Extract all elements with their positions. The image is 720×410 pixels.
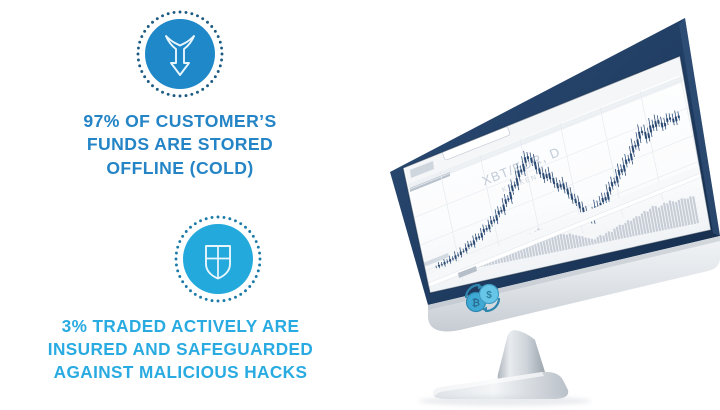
candle-body: [528, 156, 529, 159]
candle-body: [607, 192, 608, 199]
candle-body: [512, 186, 513, 192]
svg-text:$: $: [486, 290, 492, 301]
volume-bar: [597, 237, 598, 243]
candle-body: [481, 233, 482, 237]
cold-storage-caption: 97% OF CUSTOMER’S FUNDS ARE STORED OFFLI…: [30, 110, 330, 180]
ring-dot: [161, 91, 164, 94]
desktop-monitor: XBT/EUR, D KRAKEN: [330, 0, 720, 410]
shield-icon: [183, 224, 253, 294]
feature-cold-storage: 97% OF CUSTOMER’S FUNDS ARE STORED OFFLI…: [0, 8, 360, 180]
candle-body: [521, 170, 522, 173]
ring-dot: [234, 296, 237, 299]
ring-dot: [220, 47, 223, 50]
candle-body: [610, 187, 611, 191]
ring-dot: [219, 64, 222, 67]
candle-body: [535, 162, 536, 170]
infographic-canvas: 97% OF CUSTOMER’S FUNDS ARE STORED OFFLI…: [0, 0, 720, 410]
candle-body: [575, 199, 576, 203]
insurance-badge: [172, 213, 264, 305]
ring-dot: [167, 12, 170, 15]
ring-dot: [258, 264, 261, 267]
candle-body: [546, 174, 547, 178]
volume-bar: [603, 236, 604, 242]
ring-dot: [221, 53, 224, 56]
candle-body: [631, 153, 632, 160]
candle-body: [583, 208, 584, 213]
svg-text:₿: ₿: [472, 297, 480, 309]
ring-dot: [161, 14, 164, 17]
candle-body: [665, 123, 666, 126]
ring-dot: [255, 275, 258, 278]
ring-dot: [178, 275, 181, 278]
ring-dot: [179, 11, 182, 14]
candle-body: [525, 157, 526, 163]
caption-line: AGAINST MALICIOUS HACKS: [8, 361, 353, 384]
candle-body: [563, 183, 564, 189]
candle-body: [474, 240, 475, 244]
ring-dot: [190, 12, 193, 15]
ring-dot: [199, 219, 202, 222]
candle-body: [553, 178, 554, 184]
ring-dot: [179, 95, 182, 98]
ring-dot: [176, 269, 179, 272]
caption-line: INSURED AND SAFEGUARDED: [8, 338, 353, 361]
ring-dot: [185, 94, 188, 97]
ring-dot: [205, 217, 208, 220]
candle-body: [476, 237, 477, 240]
candle-body: [461, 252, 462, 255]
ring-dot: [228, 298, 231, 301]
ring-dot: [223, 299, 226, 302]
candle-body: [639, 132, 640, 139]
ring-dot: [257, 269, 260, 272]
candle-body: [539, 168, 540, 174]
candle-body: [503, 205, 504, 211]
candle-body: [491, 220, 492, 224]
candle-body: [455, 255, 456, 258]
insured-trading-caption: 3% TRADED ACTIVELY ARE INSURED AND SAFEG…: [8, 315, 353, 384]
candle-body: [645, 132, 646, 139]
candle-body: [496, 215, 497, 220]
candle-body: [549, 173, 550, 179]
candle-body: [658, 120, 659, 123]
cold-storage-badge: [134, 8, 226, 100]
ring-dot: [178, 240, 181, 243]
candle-body: [667, 118, 668, 122]
candle-body: [517, 178, 518, 185]
ring-dot: [228, 217, 231, 220]
candle-body: [653, 125, 654, 128]
candle-body: [543, 173, 544, 179]
caption-line: 3% TRADED ACTIVELY ARE: [8, 315, 353, 338]
ring-dot: [138, 41, 141, 44]
candle-body: [505, 199, 506, 204]
candle-body: [579, 202, 580, 208]
caption-line: 97% OF CUSTOMER’S: [30, 110, 330, 133]
ring-dot: [211, 216, 214, 219]
ring-dot: [196, 14, 199, 17]
candle-body: [557, 183, 558, 188]
ground-shadow: [419, 396, 591, 406]
ring-dot: [217, 216, 220, 219]
crypto-exchange-coins-logo: ₿ $: [466, 284, 499, 312]
candle-body: [466, 248, 467, 251]
candle-body: [673, 119, 674, 123]
ring-dot: [258, 252, 261, 255]
feature-insured-trading: 3% TRADED ACTIVELY ARE INSURED AND SAFEG…: [0, 213, 360, 384]
ring-dot: [176, 246, 179, 249]
candle-body: [655, 121, 656, 127]
ring-dot: [173, 94, 176, 97]
candle-body: [624, 165, 625, 172]
candle-body: [567, 189, 568, 195]
candle-body: [637, 139, 638, 146]
candle-body: [498, 211, 499, 215]
caption-line: FUNDS ARE STORED: [30, 133, 330, 156]
ring-dot: [220, 59, 223, 62]
candle-body: [617, 176, 618, 182]
ring-dot: [259, 258, 262, 261]
ring-dot: [217, 70, 220, 73]
candle-body: [484, 229, 485, 232]
ring-dot: [167, 93, 170, 96]
volume-bar: [589, 238, 590, 245]
ring-dot: [140, 35, 143, 38]
ring-dot: [137, 47, 140, 50]
candle-body: [571, 194, 572, 200]
candle-body: [676, 117, 677, 122]
volume-bar: [585, 238, 586, 246]
candle-body: [612, 182, 613, 186]
ring-dot: [217, 35, 220, 38]
ring-dot: [217, 300, 220, 303]
ring-dot: [199, 296, 202, 299]
ring-dot: [175, 258, 178, 261]
volume-bar: [592, 239, 593, 245]
ring-dot: [205, 298, 208, 301]
candle-body: [626, 160, 627, 164]
ring-dot: [137, 59, 140, 62]
candle-body: [662, 123, 663, 128]
ring-dot: [173, 11, 176, 14]
candle-body: [523, 164, 524, 172]
ring-dot: [190, 93, 193, 96]
ring-dot: [175, 252, 178, 255]
candle-body: [602, 198, 603, 202]
caption-line: OFFLINE (COLD): [30, 157, 330, 180]
ring-dot: [138, 64, 141, 67]
candle-body: [510, 192, 511, 199]
ring-dot: [257, 246, 260, 249]
ring-dot: [219, 41, 222, 44]
candle-body: [489, 225, 490, 229]
ring-dot: [255, 240, 258, 243]
candle-body: [621, 169, 622, 172]
ring-dot: [223, 216, 226, 219]
candle-body: [531, 158, 532, 163]
ring-dot: [211, 299, 214, 302]
ring-dot: [137, 53, 140, 56]
ring-dot: [196, 91, 199, 94]
candle-body: [518, 171, 519, 178]
ring-dot: [234, 219, 237, 222]
candle-body: [605, 197, 606, 200]
merge-down-arrow-icon: [145, 19, 215, 89]
ring-dot: [175, 264, 178, 267]
volume-bar: [595, 239, 596, 243]
ring-dot: [140, 70, 143, 73]
candle-body: [650, 126, 651, 133]
candle-body: [560, 184, 561, 187]
candle-body: [632, 146, 633, 153]
candle-body: [648, 133, 649, 138]
ring-dot: [185, 11, 188, 14]
volume-bar: [600, 235, 601, 243]
candle-body: [619, 170, 620, 175]
